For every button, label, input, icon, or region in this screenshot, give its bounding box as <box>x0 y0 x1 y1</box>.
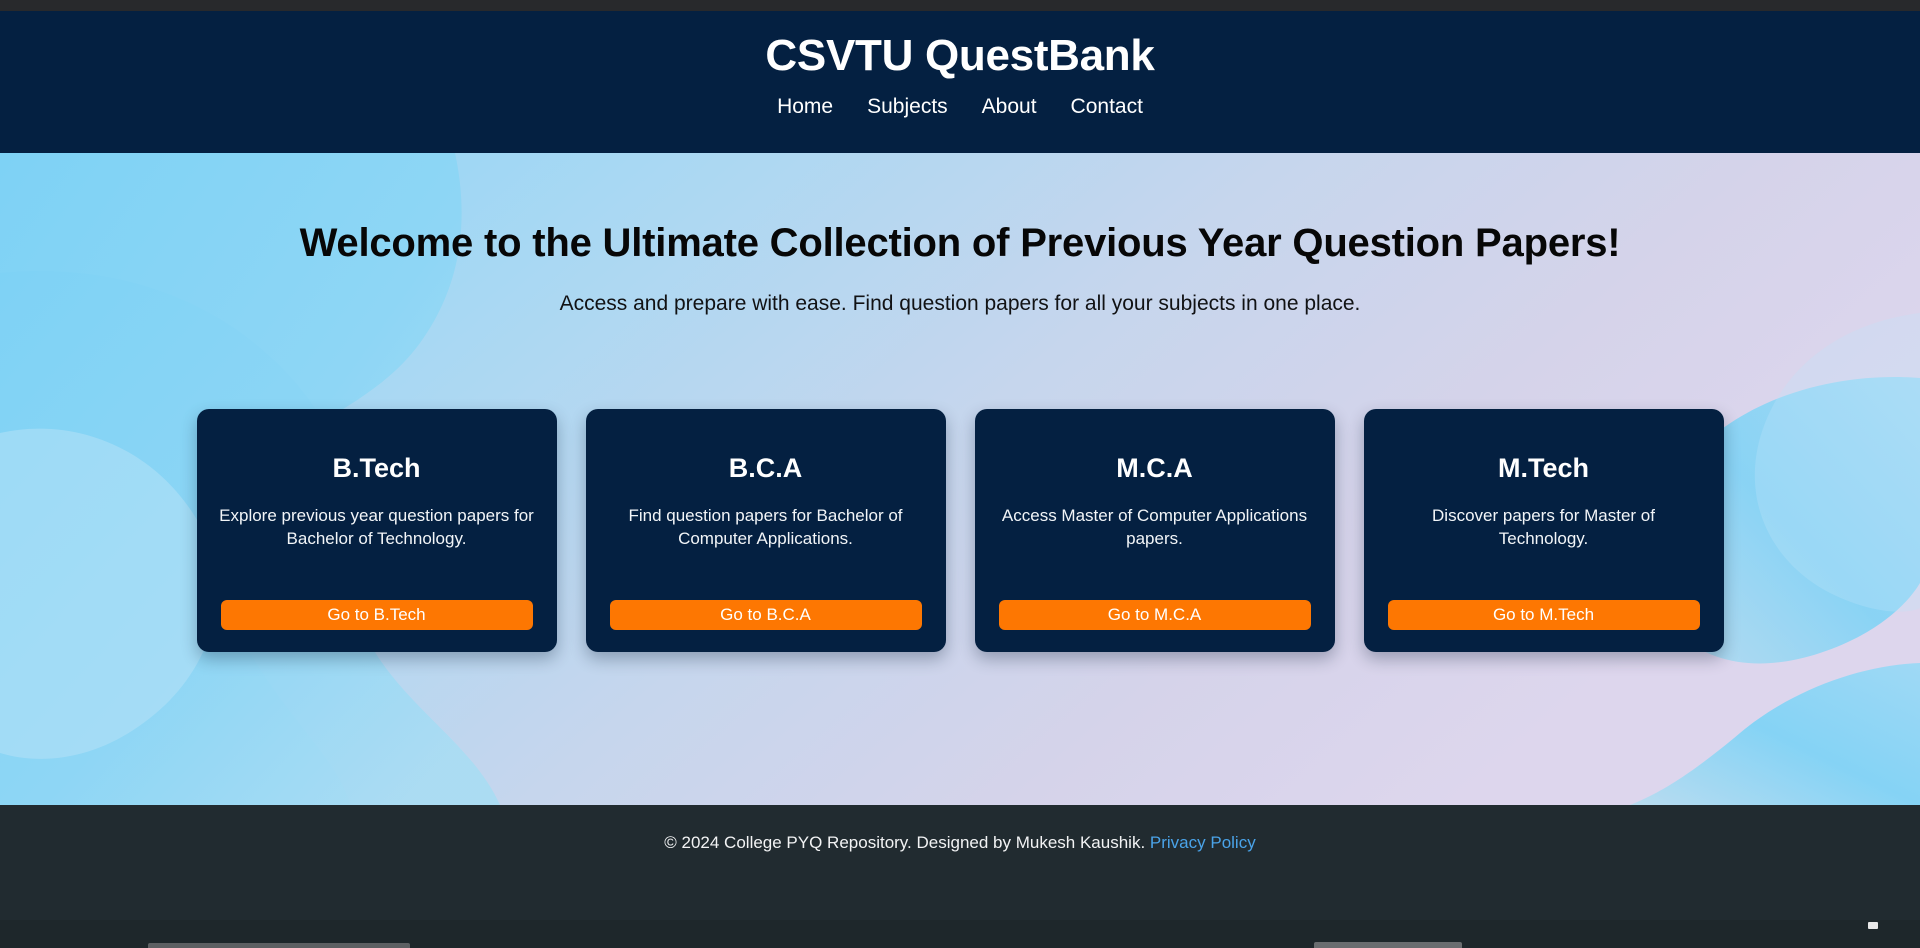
taskbar-item-secondary[interactable] <box>1314 942 1462 948</box>
nav-item-contact[interactable]: Contact <box>1071 96 1143 117</box>
page-viewport: CSVTU QuestBank Home Subjects About Cont… <box>0 11 1920 920</box>
course-card-description: Find question papers for Bachelor of Com… <box>608 504 924 550</box>
course-card-row: B.Tech Explore previous year question pa… <box>0 409 1920 652</box>
course-card-mca[interactable]: M.C.A Access Master of Computer Applicat… <box>975 409 1335 652</box>
browser-chrome-bottom-strip <box>0 920 1920 948</box>
footer-copyright: © 2024 College PYQ Repository. Designed … <box>664 833 1255 853</box>
go-to-mca-button[interactable]: Go to M.C.A <box>999 600 1311 630</box>
hero-section: Welcome to the Ultimate Collection of Pr… <box>0 153 1920 805</box>
taskbar-indicator-icon <box>1868 922 1878 929</box>
hero-subheading: Access and prepare with ease. Find quest… <box>560 292 1361 316</box>
course-card-description: Access Master of Computer Applications p… <box>997 504 1313 550</box>
nav-item-home[interactable]: Home <box>777 96 833 117</box>
main-navigation: Home Subjects About Contact <box>777 96 1143 117</box>
course-card-title: B.Tech <box>332 454 420 484</box>
hero-content: Welcome to the Ultimate Collection of Pr… <box>0 153 1920 805</box>
course-card-btech[interactable]: B.Tech Explore previous year question pa… <box>197 409 557 652</box>
hero-heading: Welcome to the Ultimate Collection of Pr… <box>300 221 1621 266</box>
privacy-policy-link[interactable]: Privacy Policy <box>1150 833 1256 852</box>
taskbar-item-primary[interactable] <box>148 943 410 948</box>
nav-item-about[interactable]: About <box>982 96 1037 117</box>
go-to-bca-button[interactable]: Go to B.C.A <box>610 600 922 630</box>
course-card-mtech[interactable]: M.Tech Discover papers for Master of Tec… <box>1364 409 1724 652</box>
browser-chrome-top-strip <box>0 0 1920 11</box>
course-card-title: B.C.A <box>729 454 803 484</box>
course-card-description: Discover papers for Master of Technology… <box>1386 504 1702 550</box>
site-footer: © 2024 College PYQ Repository. Designed … <box>0 805 1920 920</box>
footer-copyright-text: © 2024 College PYQ Repository. Designed … <box>664 833 1145 852</box>
site-header: CSVTU QuestBank Home Subjects About Cont… <box>0 11 1920 153</box>
course-card-title: M.C.A <box>1116 454 1193 484</box>
go-to-mtech-button[interactable]: Go to M.Tech <box>1388 600 1700 630</box>
course-card-title: M.Tech <box>1498 454 1589 484</box>
site-brand-title: CSVTU QuestBank <box>765 31 1154 82</box>
course-card-bca[interactable]: B.C.A Find question papers for Bachelor … <box>586 409 946 652</box>
course-card-description: Explore previous year question papers fo… <box>219 504 535 550</box>
go-to-btech-button[interactable]: Go to B.Tech <box>221 600 533 630</box>
nav-item-subjects[interactable]: Subjects <box>867 96 948 117</box>
